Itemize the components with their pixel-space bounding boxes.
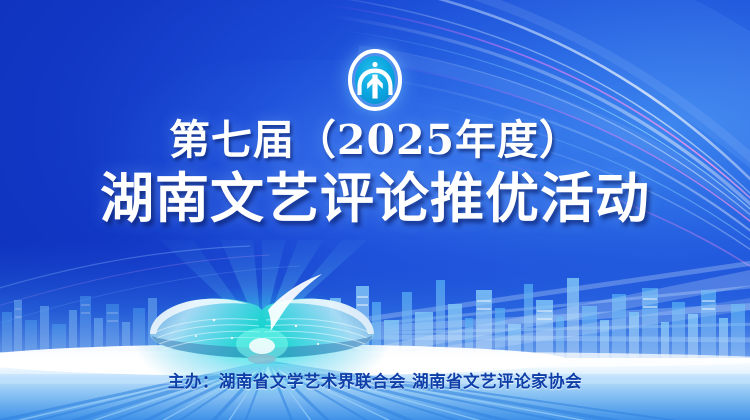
- organizer-footer-text: 主办：湖南省文学艺术界联合会 湖南省文艺评论家协会: [0, 368, 750, 392]
- poster-canvas: 第七届（2025年度） 湖南文艺评论推优活动: [0, 0, 750, 420]
- title-block: 第七届（2025年度） 湖南文艺评论推优活动: [0, 118, 750, 227]
- bottom-scene-graphic: [0, 240, 750, 420]
- title-line-2: 湖南文艺评论推优活动: [0, 169, 750, 227]
- title-line-1: 第七届（2025年度）: [0, 118, 750, 163]
- organization-emblem-icon: [347, 48, 403, 112]
